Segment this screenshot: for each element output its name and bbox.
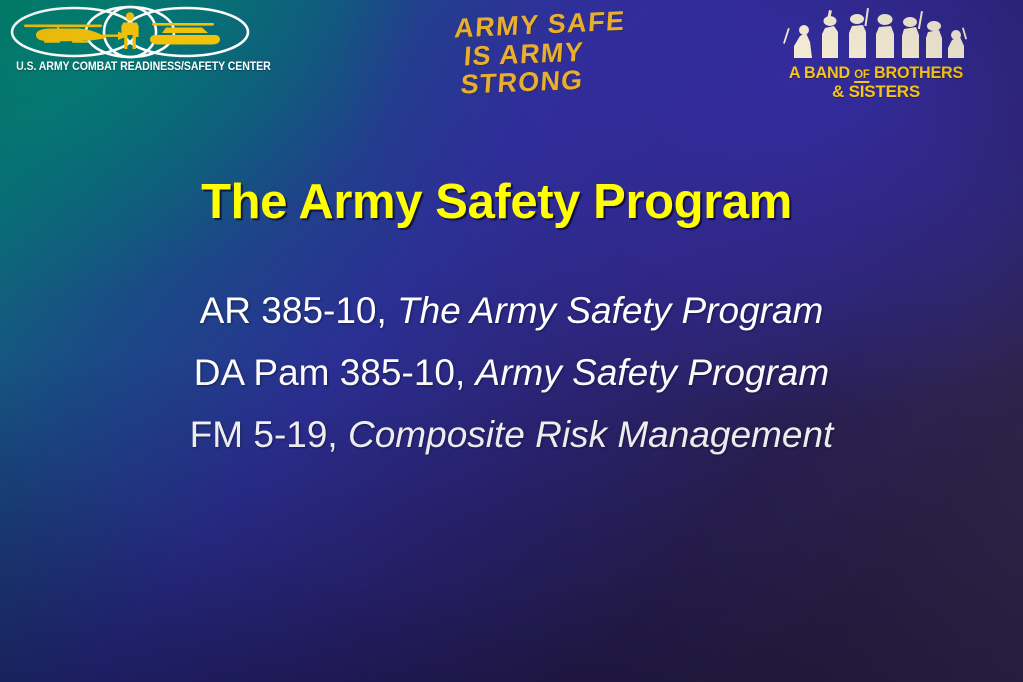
tagline-line-2: IS ARMY STRONG — [396, 36, 649, 101]
body-line-3: FM 5-19, Composite Risk Management — [0, 404, 1023, 466]
bob-line-1: A BAND OF BROTHERS — [781, 64, 971, 81]
body-line-2: DA Pam 385-10, Army Safety Program — [0, 342, 1023, 404]
bob-line-2: & SISTERS — [776, 83, 976, 100]
body-line-1-reference: AR 385-10, — [200, 290, 387, 331]
bob-line1-after: BROTHERS — [870, 63, 963, 82]
bob-line1-before: A BAND — [789, 63, 854, 82]
body-line-1: AR 385-10, The Army Safety Program — [0, 280, 1023, 342]
band-of-brothers-logo: A BAND OF BROTHERS & SISTERS — [776, 6, 976, 106]
slide-title: The Army Safety Program — [0, 174, 1023, 230]
soldier-silhouettes-graphic — [776, 6, 976, 64]
crc-logo-caption: U.S. ARMY COMBAT READINESS/SAFETY CENTER — [16, 61, 248, 73]
body-line-2-reference: DA Pam 385-10, — [194, 352, 465, 393]
crc-logo: U.S. ARMY COMBAT READINESS/SAFETY CENTER — [6, 4, 258, 84]
crc-rings-graphic — [6, 4, 254, 60]
slide-title-text: The Army Safety Program — [201, 174, 792, 230]
tank-icon — [150, 23, 220, 45]
band-of-brothers-text: A BAND OF BROTHERS & SISTERS — [776, 64, 976, 100]
body-line-2-publication: Army Safety Program — [476, 352, 830, 393]
presentation-slide: U.S. ARMY COMBAT READINESS/SAFETY CENTER… — [0, 0, 1023, 682]
bob-line1-of: OF — [854, 67, 869, 83]
slide-body: AR 385-10, The Army Safety Program DA Pa… — [0, 280, 1023, 466]
body-line-1-publication: The Army Safety Program — [397, 290, 823, 331]
helicopter-icon — [24, 25, 128, 43]
body-line-3-publication: Composite Risk Management — [348, 414, 833, 455]
army-safe-tagline-logo: ARMY SAFE IS ARMY STRONG — [398, 18, 648, 78]
body-line-3-reference: FM 5-19, — [190, 414, 338, 455]
